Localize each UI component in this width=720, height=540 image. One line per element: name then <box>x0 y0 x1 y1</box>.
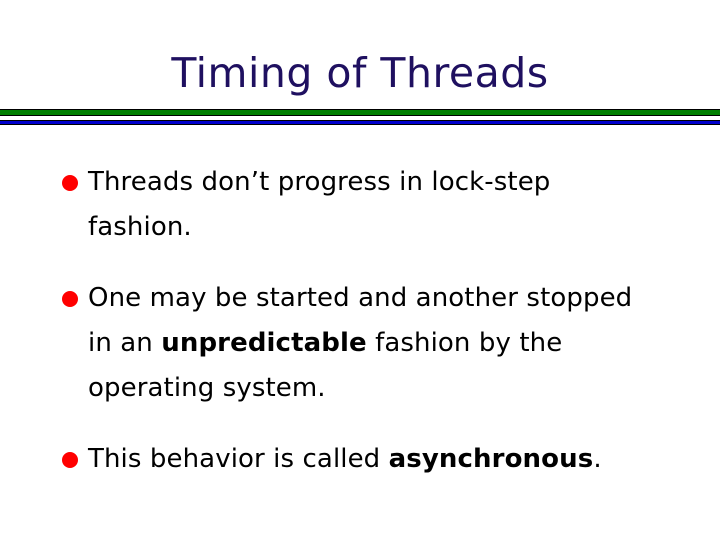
slide-body: Threads don’t progress in lock-step fash… <box>62 160 662 482</box>
title-divider-blue-bar <box>0 120 720 125</box>
list-item: Threads don’t progress in lock-step fash… <box>62 160 662 250</box>
bullet-dot-icon <box>62 175 78 191</box>
list-item: One may be started and another stopped i… <box>62 276 662 411</box>
slide-title: Timing of Threads <box>0 48 720 98</box>
list-item: This behavior is called asynchronous. <box>62 437 662 482</box>
bullet-dot-icon <box>62 452 78 468</box>
list-item-text: This behavior is called asynchronous. <box>88 437 662 482</box>
bullet-dot-icon <box>62 291 78 307</box>
list-item-text: One may be started and another stopped i… <box>88 276 662 411</box>
title-divider-green-bar <box>0 109 720 116</box>
list-item-text: Threads don’t progress in lock-step fash… <box>88 160 662 250</box>
presentation-slide: Timing of Threads Threads don’t progress… <box>0 0 720 540</box>
